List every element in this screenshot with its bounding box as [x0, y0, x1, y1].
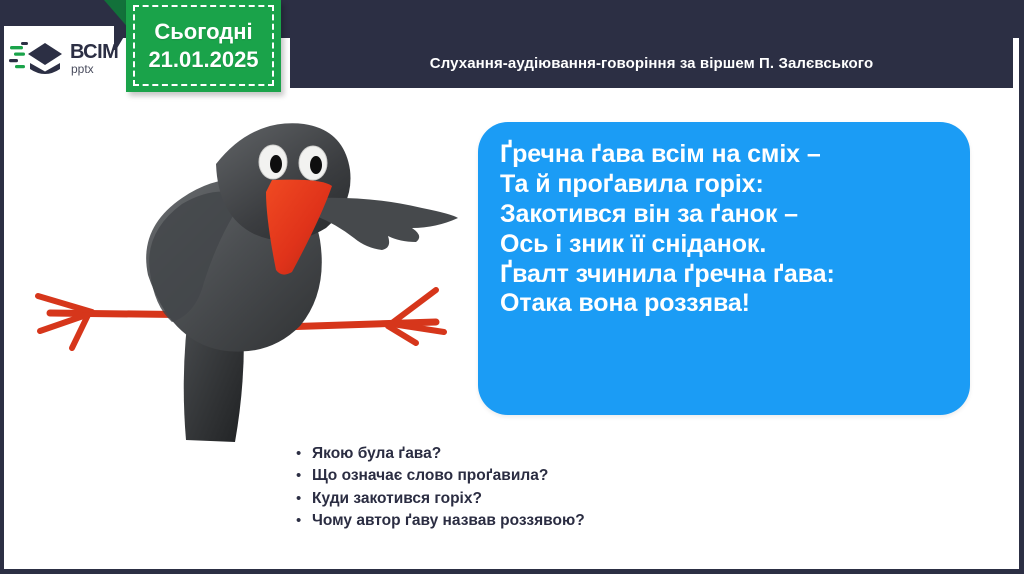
question-text: Чому автор ґаву назвав роззявою?	[312, 513, 585, 529]
poem-line: Отака вона роззява!	[500, 289, 948, 319]
poem-line: Ґречна ґава всім на сміх –	[500, 140, 948, 170]
slide-title-bar: Слухання-аудіювання-говоріння за віршем …	[290, 38, 1013, 88]
question-text: Що означає слово проґавила?	[312, 468, 548, 484]
bullet-icon: •	[296, 468, 312, 483]
bullet-icon: •	[296, 446, 312, 461]
vsim-pptx-logo[interactable]: ВСІМ pptx	[8, 32, 128, 84]
date-badge-date: 21.01.2025	[148, 46, 258, 74]
date-badge-label: Сьогодні	[154, 18, 252, 46]
poem-panel: Ґречна ґава всім на сміх – Та й проґавил…	[478, 122, 970, 415]
poem-line: Та й проґавила горіх:	[500, 170, 948, 200]
poem-line: Закотився він за ґанок –	[500, 200, 948, 230]
logo-subtitle: pptx	[71, 63, 118, 75]
today-date-badge: Сьогодні 21.01.2025	[126, 0, 281, 92]
slide-canvas: ВСІМ pptx Сьогодні 21.01.2025 Слухання-а…	[0, 0, 1024, 574]
graduation-cap-icon	[8, 36, 66, 80]
list-item: • Що означає слово проґавила?	[296, 468, 796, 484]
bullet-icon: •	[296, 513, 312, 528]
slide-border-bottom	[0, 569, 1024, 574]
list-item: • Чому автор ґаву назвав роззявою?	[296, 513, 796, 529]
bullet-icon: •	[296, 491, 312, 506]
question-text: Куди закотився горіх?	[312, 491, 482, 507]
logo-title: ВСІМ	[70, 42, 118, 62]
crow-illustration	[20, 100, 460, 450]
slide-border-right	[1019, 0, 1024, 574]
crow-wing-right	[316, 198, 458, 250]
poem-line: Ось і зник її сніданок.	[500, 230, 948, 260]
slide-border-left	[0, 0, 4, 574]
poem-line: Ґвалт зчинила ґречна ґава:	[500, 260, 948, 290]
list-item: • Якою була ґава?	[296, 446, 796, 462]
list-item: • Куди закотився горіх?	[296, 491, 796, 507]
question-text: Якою була ґава?	[312, 446, 441, 462]
questions-list: • Якою була ґава? • Що означає слово про…	[296, 446, 796, 535]
slide-title: Слухання-аудіювання-говоріння за віршем …	[430, 55, 873, 72]
